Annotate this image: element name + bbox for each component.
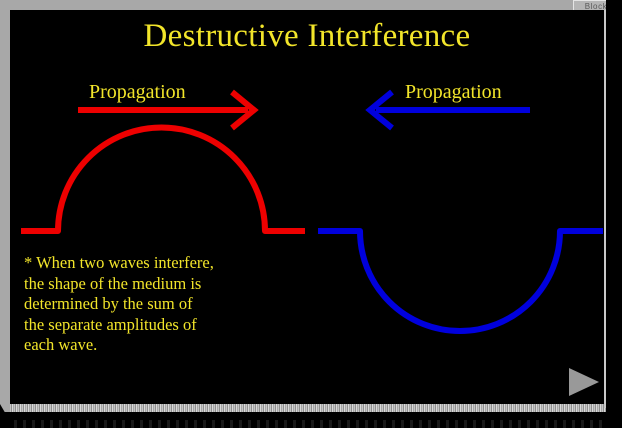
propagation-arrow-left [78,92,254,128]
advance-slide-button[interactable] [565,365,601,399]
explanation-line: the separate amplitudes of [24,315,324,336]
explanation-line: each wave. [24,335,324,356]
explanation-line: * When two waves interfere, [24,253,324,274]
window-frame-bottom-dither [14,420,614,428]
explanation-line: determined by the sum of [24,294,324,315]
explanation-text: * When two waves interfere, the shape of… [24,253,324,356]
play-triangle-icon [565,365,601,399]
presentation-window: Block Destructive Interference Propagati… [0,0,622,428]
slide-canvas: Destructive Interference Propagation Pro… [10,10,604,404]
window-frame-top [0,0,622,10]
wave-pulse-left [21,128,305,231]
window-frame-left [0,0,10,416]
window-frame-bottom-band [10,404,606,412]
explanation-line: the shape of the medium is [24,274,324,295]
window-frame-right-fill [606,0,622,428]
propagation-arrow-right [370,92,530,128]
wave-pulse-right [318,231,603,331]
